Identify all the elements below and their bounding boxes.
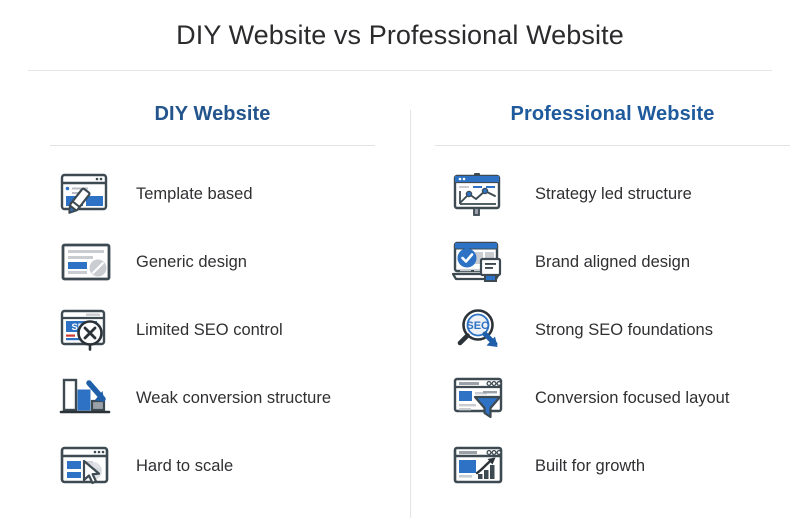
title-bar: DIY Website vs Professional Website: [0, 0, 800, 70]
list-item: Built for growth: [435, 432, 790, 500]
page-title: DIY Website vs Professional Website: [176, 20, 624, 51]
browser-funnel-icon: [449, 373, 513, 423]
list-item-label: Strong SEO foundations: [535, 321, 713, 340]
list-item: SEO Strong SEO foundations: [435, 296, 790, 364]
list-item: Brand aligned design: [435, 228, 790, 296]
list-item: Conversion focused layout: [435, 364, 790, 432]
comparison-columns: DIY Website: [0, 71, 800, 528]
column-heading-professional: Professional Website: [435, 103, 790, 126]
svg-text:SEO: SEO: [466, 320, 490, 332]
list-item-label: Limited SEO control: [136, 321, 283, 340]
bar-chart-down-arrow-icon: [56, 373, 120, 423]
list-item: Weak conversion structure: [50, 364, 375, 432]
feature-list-diy: Template based: [50, 160, 375, 500]
list-item: Strategy led structure: [435, 160, 790, 228]
list-item-label: Strategy led structure: [535, 185, 692, 204]
list-item-label: Conversion focused layout: [535, 389, 729, 408]
list-item-label: Brand aligned design: [535, 253, 690, 272]
list-item-label: Hard to scale: [136, 457, 233, 476]
list-item-label: Generic design: [136, 253, 247, 272]
list-item: SEO Limited SEO control: [50, 296, 375, 364]
seo-magnifier-arrow-icon: SEO: [449, 305, 513, 355]
browser-growth-chart-icon: [449, 441, 513, 491]
list-item: Generic design: [50, 228, 375, 296]
layout-circle-icon: [56, 237, 120, 287]
column-heading-divider-professional: [435, 145, 790, 146]
list-item-label: Template based: [136, 185, 253, 204]
list-item-label: Built for growth: [535, 457, 645, 476]
browser-pencil-icon: [56, 169, 120, 219]
column-heading-diy: DIY Website: [50, 103, 375, 126]
list-item-label: Weak conversion structure: [136, 389, 331, 408]
infographic-page: DIY Website vs Professional Website DIY …: [0, 0, 800, 528]
feature-list-professional: Strategy led structure: [435, 160, 790, 500]
seo-cross-icon: SEO: [56, 305, 120, 355]
list-item: Template based: [50, 160, 375, 228]
monitor-check-badge-icon: [449, 237, 513, 287]
presentation-chart-icon: [449, 169, 513, 219]
column-heading-divider-diy: [50, 145, 375, 146]
column-professional: Professional Website: [400, 71, 800, 528]
column-diy: DIY Website: [0, 71, 400, 528]
list-item: Hard to scale: [50, 432, 375, 500]
browser-cursor-icon: [56, 441, 120, 491]
